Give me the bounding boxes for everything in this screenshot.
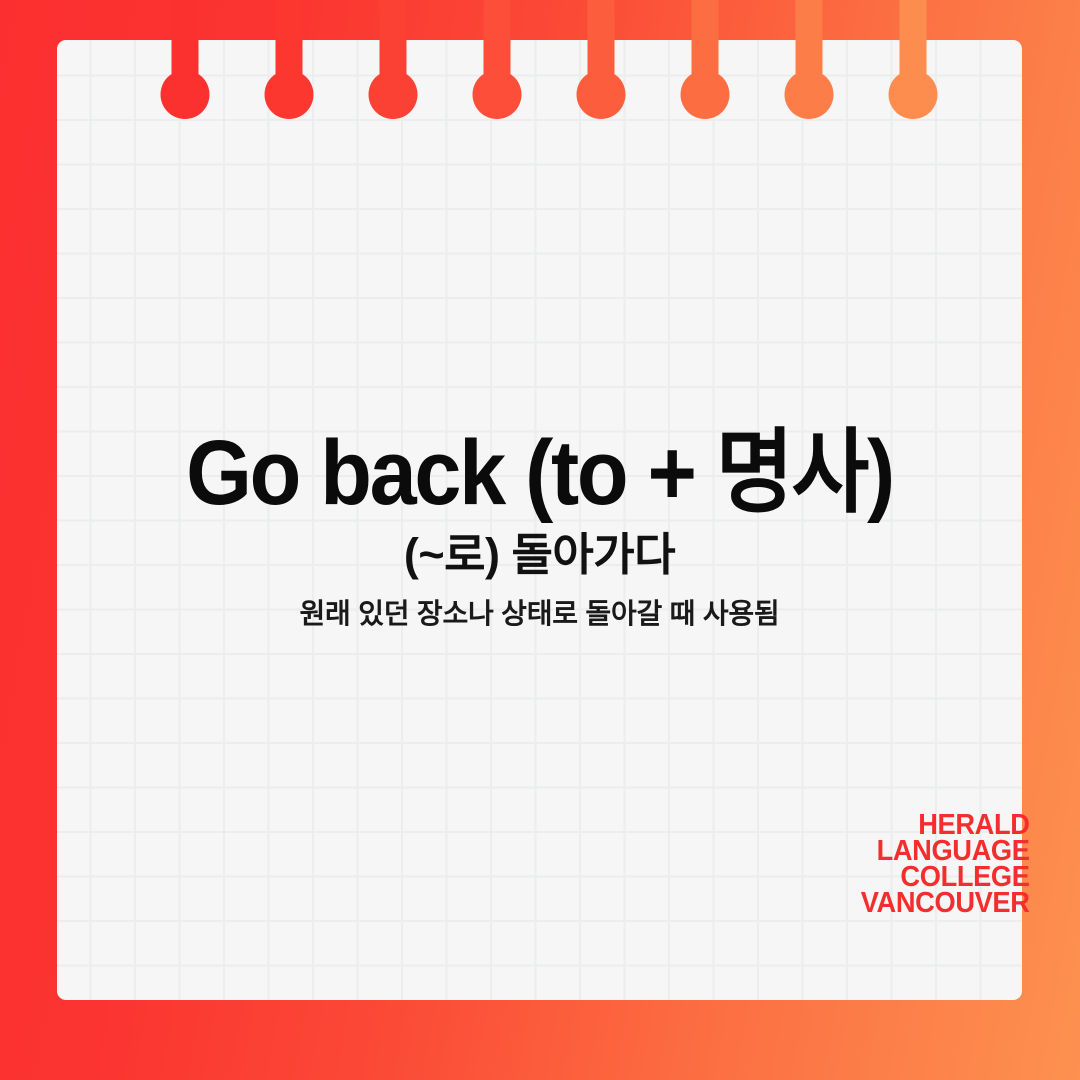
page-description: 원래 있던 장소나 상태로 돌아갈 때 사용됨	[57, 596, 1022, 632]
poster-canvas: Go back (to + 명사) (~로) 돌아가다 원래 있던 장소나 상태…	[0, 0, 1080, 1080]
page-title: Go back (to + 명사)	[96, 425, 984, 522]
page-subtitle: (~로) 돌아가다	[57, 528, 1022, 582]
brand-logo-line-4: VANCOUVER	[861, 890, 1030, 916]
brand-logo: HERALDLANGUAGECOLLEGEVANCOUVER	[861, 812, 1030, 916]
